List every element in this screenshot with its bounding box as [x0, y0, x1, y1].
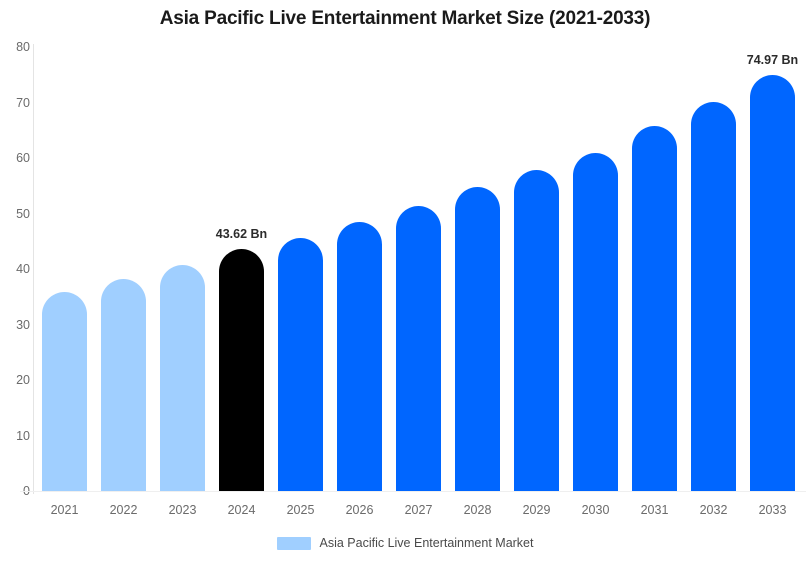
- bar-fill-2026: [337, 222, 382, 491]
- legend-label-asia-pacific-live-entertainment-market: Asia Pacific Live Entertainment Market: [320, 536, 534, 550]
- y-axis: 80706050403020100: [0, 0, 30, 562]
- bar-fill-2030: [573, 153, 618, 491]
- bar-fill-2021: [42, 292, 87, 491]
- bar-fill-2027: [396, 206, 441, 491]
- x-axis-tick-label-2029: 2029: [507, 503, 566, 517]
- bar-2029[interactable]: [514, 47, 559, 491]
- bar-value-label-2024: 43.62 Bn: [197, 227, 286, 241]
- x-axis-tick-label-2032: 2032: [684, 503, 743, 517]
- page-title: Asia Pacific Live Entertainment Market S…: [0, 8, 810, 30]
- bar-2030[interactable]: [573, 47, 618, 491]
- x-axis-tick-label-2026: 2026: [330, 503, 389, 517]
- bar-2032[interactable]: [691, 47, 736, 491]
- y-axis-tick-label: 70: [4, 96, 30, 110]
- y-axis-tick-label: 60: [4, 151, 30, 165]
- x-axis-tick-label-2030: 2030: [566, 503, 625, 517]
- x-axis: 2021202220232024202520262027202820292030…: [33, 503, 803, 523]
- bar-2022[interactable]: [101, 47, 146, 491]
- bar-fill-2023: [160, 265, 205, 491]
- bar-2025[interactable]: [278, 47, 323, 491]
- bar-2023[interactable]: [160, 47, 205, 491]
- bar-2028[interactable]: [455, 47, 500, 491]
- bar-2021[interactable]: [42, 47, 87, 491]
- x-axis-tick-label-2031: 2031: [625, 503, 684, 517]
- bar-2027[interactable]: [396, 47, 441, 491]
- bar-value-label-2033: 74.97 Bn: [728, 53, 810, 67]
- x-axis-tick-label-2033: 2033: [743, 503, 802, 517]
- x-axis-tick-label-2022: 2022: [94, 503, 153, 517]
- x-axis-tick-label-2024: 2024: [212, 503, 271, 517]
- bar-fill-2033: [750, 75, 795, 491]
- bar-fill-2031: [632, 126, 677, 491]
- bar-fill-2024: [219, 249, 264, 491]
- bar-chart: Asia Pacific Live Entertainment Market S…: [0, 0, 810, 562]
- x-axis-tick-label-2027: 2027: [389, 503, 448, 517]
- y-axis-tick-label: 10: [4, 429, 30, 443]
- y-axis-tick-label: 50: [4, 207, 30, 221]
- x-axis-tick-label-2028: 2028: [448, 503, 507, 517]
- x-axis-tick-label-2023: 2023: [153, 503, 212, 517]
- plot-area: 43.62 Bn74.97 Bn: [33, 47, 803, 491]
- y-axis-tick-label: 30: [4, 318, 30, 332]
- bar-fill-2028: [455, 187, 500, 491]
- bar-fill-2032: [691, 102, 736, 491]
- bar-fill-2029: [514, 170, 559, 491]
- bar-2031[interactable]: [632, 47, 677, 491]
- bar-2024[interactable]: 43.62 Bn: [219, 47, 264, 491]
- legend: Asia Pacific Live Entertainment Market: [0, 536, 810, 550]
- legend-swatch-asia-pacific-live-entertainment-market: [277, 537, 311, 550]
- bar-fill-2022: [101, 279, 146, 491]
- x-axis-line: [20, 491, 806, 492]
- y-axis-tick-label: 40: [4, 262, 30, 276]
- x-axis-tick-label-2021: 2021: [35, 503, 94, 517]
- y-axis-tick-label: 80: [4, 40, 30, 54]
- bar-2033[interactable]: 74.97 Bn: [750, 47, 795, 491]
- bar-2026[interactable]: [337, 47, 382, 491]
- bar-fill-2025: [278, 238, 323, 491]
- y-axis-tick-label: 20: [4, 373, 30, 387]
- x-axis-tick-label-2025: 2025: [271, 503, 330, 517]
